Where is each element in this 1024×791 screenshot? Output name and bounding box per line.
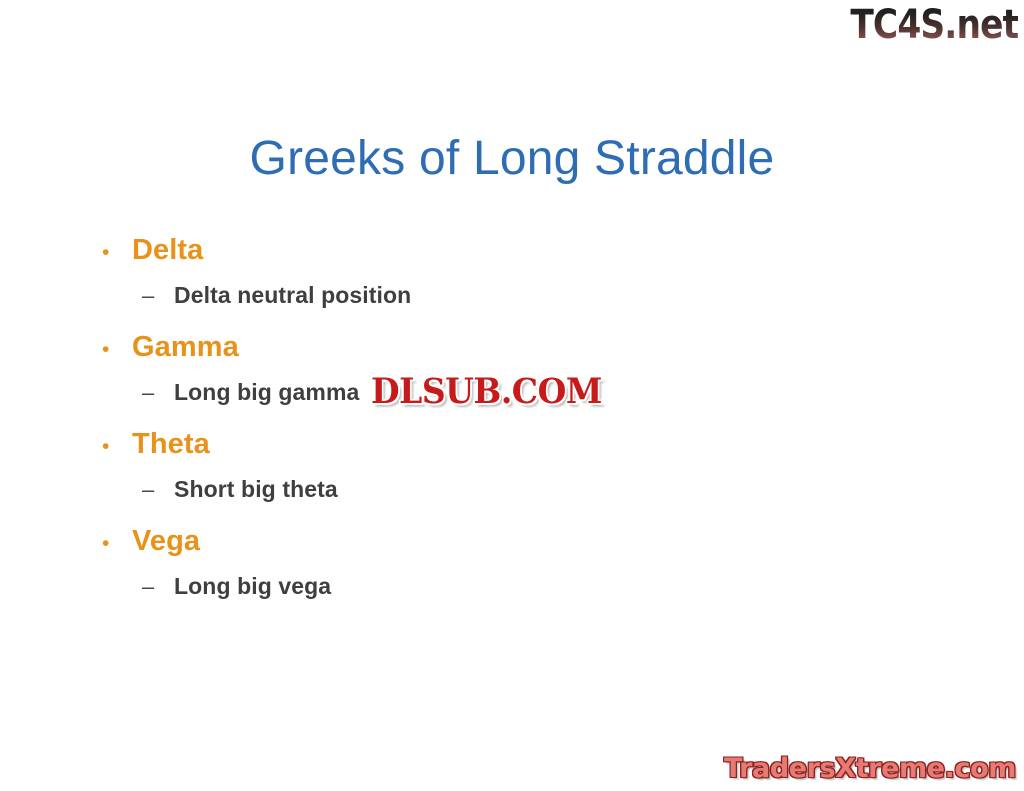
bullet-label-delta: Delta [132, 233, 203, 267]
bullet-dot-icon: • [96, 432, 132, 462]
bullet-dash-icon: – [142, 477, 174, 503]
bullet-dash-icon: – [142, 283, 174, 309]
bullet-item-vega: • Vega [96, 524, 916, 572]
tradersxtreme-watermark: TradersXtreme.com [724, 752, 1016, 785]
page-title: Greeks of Long Straddle [0, 131, 1024, 187]
sub-bullet-label-vega: Long big vega [174, 572, 331, 600]
bullet-group-delta: • Delta – Delta neutral position [96, 233, 916, 330]
bullet-list: • Delta – Delta neutral position • Gamma… [96, 233, 916, 621]
bullet-label-vega: Vega [132, 524, 200, 558]
bullet-label-gamma: Gamma [132, 330, 239, 364]
bullet-dash-icon: – [142, 380, 174, 406]
presentation-slide: TC4S.net Greeks of Long Straddle • Delta… [0, 0, 1024, 791]
sub-bullet-item-theta: – Short big theta [96, 475, 916, 524]
sub-bullet-label-delta: Delta neutral position [174, 281, 411, 309]
sub-bullet-label-theta: Short big theta [174, 475, 338, 503]
bullet-item-theta: • Theta [96, 427, 916, 475]
sub-bullet-item-vega: – Long big vega [96, 572, 916, 621]
bullet-dash-icon: – [142, 574, 174, 600]
bullet-item-delta: • Delta [96, 233, 916, 281]
bullet-dot-icon: • [96, 238, 132, 268]
bullet-group-vega: • Vega – Long big vega [96, 524, 916, 621]
tc4s-brand-logo: TC4S.net [850, 2, 1018, 48]
bullet-dot-icon: • [96, 529, 132, 559]
sub-bullet-item-delta: – Delta neutral position [96, 281, 916, 330]
bullet-dot-icon: • [96, 335, 132, 365]
dlsub-watermark: DLSUB.COM [371, 371, 602, 413]
sub-bullet-label-gamma: Long big gamma [174, 378, 359, 406]
bullet-label-theta: Theta [132, 427, 210, 461]
bullet-group-theta: • Theta – Short big theta [96, 427, 916, 524]
